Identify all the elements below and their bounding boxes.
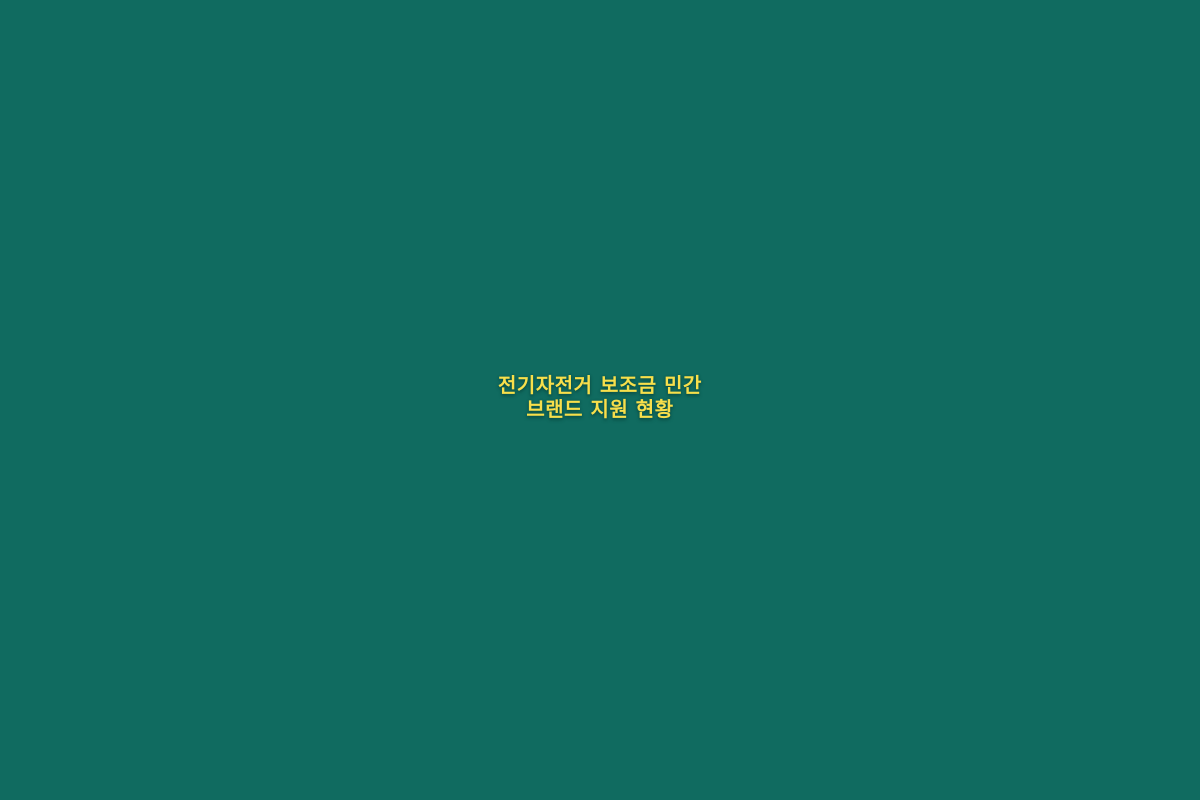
page-title: 전기자전거 보조금 민간 브랜드 지원 현황	[50, 373, 1150, 422]
page-title-line-2: 브랜드 지원 현황	[50, 397, 1150, 421]
page-title-line-1: 전기자전거 보조금 민간	[50, 373, 1150, 397]
title-card: 전기자전거 보조금 민간 브랜드 지원 현황	[0, 0, 1200, 800]
